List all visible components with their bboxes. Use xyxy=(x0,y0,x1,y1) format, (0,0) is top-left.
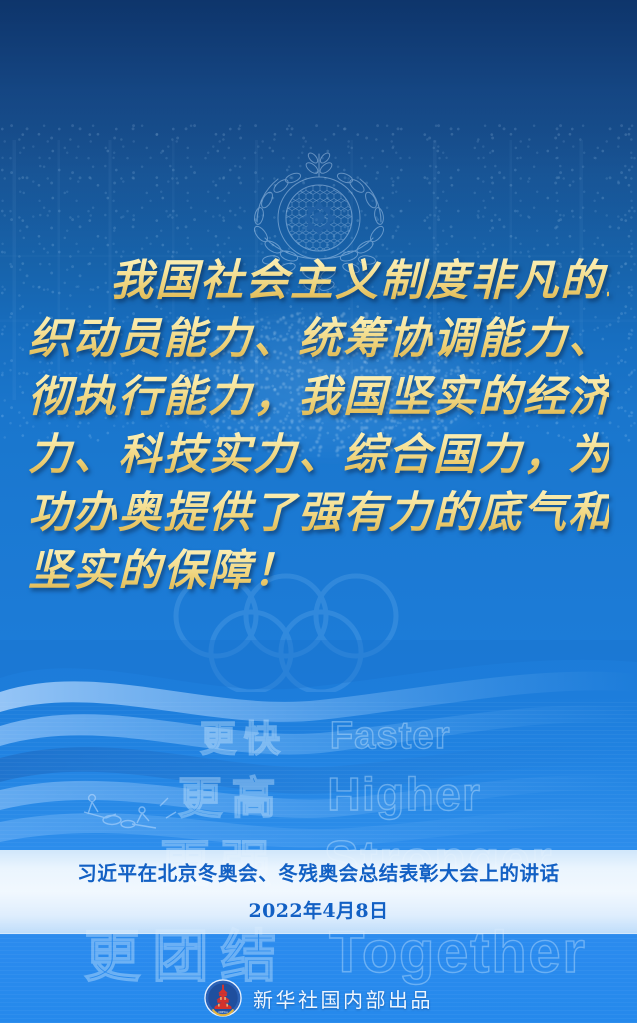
poster-root: 更快 Faster 更高 Higher 更强 Stronger 更团结 Toge… xyxy=(0,0,637,1023)
xinhua-news-agency-logo: XINHUA xyxy=(204,979,242,1017)
footer-text: 新华社国内部出品 xyxy=(253,984,433,1013)
quote-line-1: 我国社会主义制度非凡的组 xyxy=(28,252,609,310)
caption-date: 2022年4月8日 xyxy=(0,894,637,928)
quote-line-6: 坚实的保障！ xyxy=(28,542,609,600)
svg-text:XINHUA: XINHUA xyxy=(218,1010,228,1014)
quote-line-5: 功办奥提供了强有力的底气和最 xyxy=(28,484,609,542)
footer: XINHUA 新华社国内部出品 xyxy=(0,979,637,1017)
quote-line-3: 彻执行能力，我国坚实的经济实 xyxy=(28,368,609,426)
caption-title: 习近平在北京冬奥会、冬残奥会总结表彰大会上的讲话 xyxy=(0,850,637,894)
quote-line-2: 织动员能力、统筹协调能力、贯 xyxy=(28,310,609,368)
caption-band: 习近平在北京冬奥会、冬残奥会总结表彰大会上的讲话 2022年4月8日 xyxy=(0,850,637,934)
quote-line-4: 力、科技实力、综合国力，为成 xyxy=(28,426,609,484)
main-quote: 我国社会主义制度非凡的组 织动员能力、统筹协调能力、贯 彻执行能力，我国坚实的经… xyxy=(0,252,637,600)
